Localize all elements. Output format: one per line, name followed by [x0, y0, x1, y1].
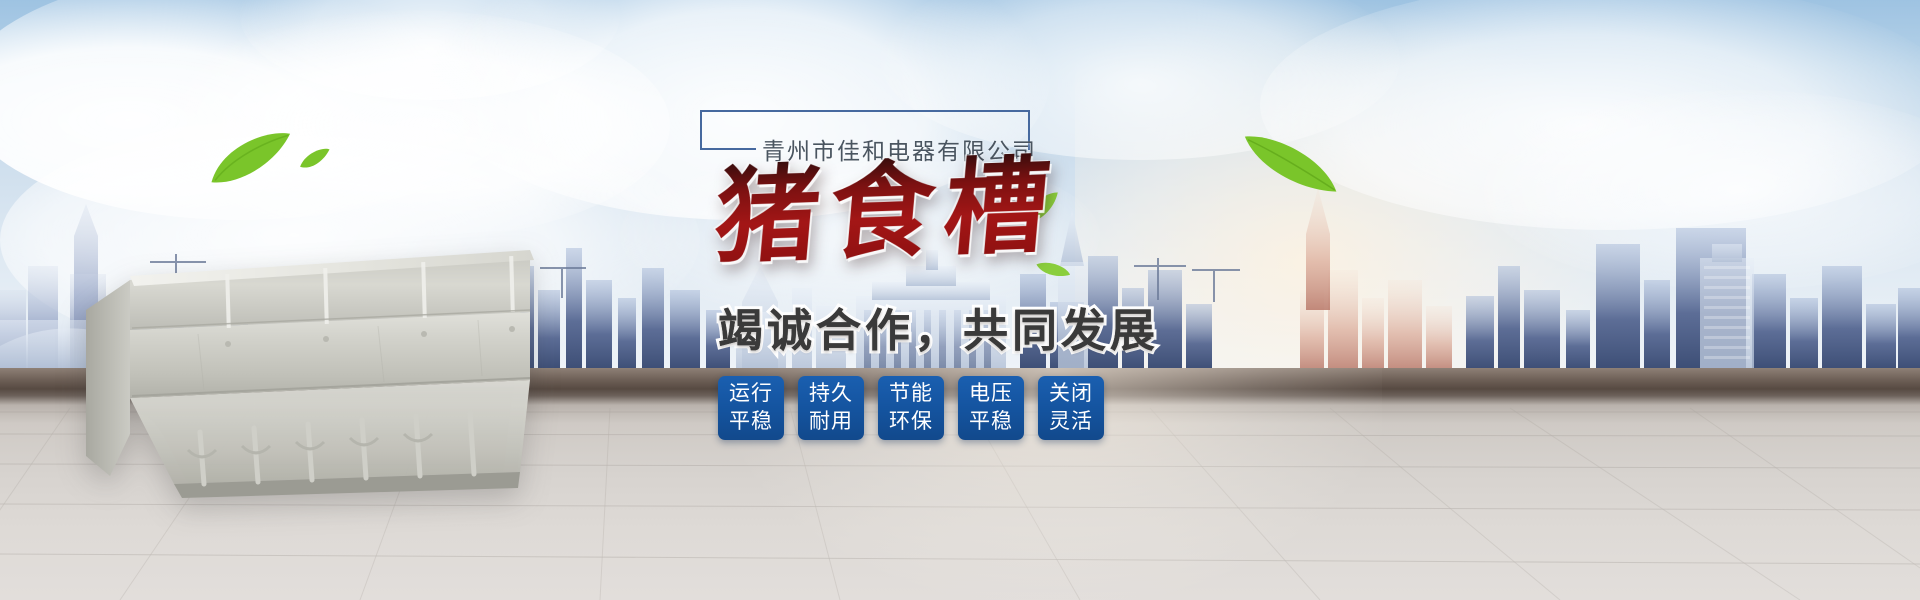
feature-tag-list: 运行 平稳 持久 耐用 节能 环保 电压 平稳 关闭 灵活	[718, 376, 1104, 440]
feature-tag-line1: 持久	[809, 380, 853, 408]
promo-banner: 青州市佳和电器有限公司 猪食槽 竭诚合作，共同发展 竭诚合作，共同发展 运行 平…	[0, 0, 1920, 600]
feature-tag-line1: 运行	[729, 380, 773, 408]
feature-tag-line2: 平稳	[969, 408, 1013, 436]
banner-copy: 青州市佳和电器有限公司 猪食槽 竭诚合作，共同发展 竭诚合作，共同发展 运行 平…	[700, 96, 1220, 556]
feature-tag-line2: 环保	[889, 408, 933, 436]
product-image-pig-feeder	[78, 184, 548, 504]
feature-tag[interactable]: 电压 平稳	[958, 376, 1024, 440]
subtitle: 竭诚合作，共同发展	[718, 294, 1159, 359]
feature-tag-line1: 关闭	[1049, 380, 1093, 408]
feature-tag[interactable]: 关闭 灵活	[1038, 376, 1104, 440]
feature-tag-line1: 节能	[889, 380, 933, 408]
feature-tag[interactable]: 持久 耐用	[798, 376, 864, 440]
feature-tag-line2: 灵活	[1049, 408, 1093, 436]
feature-tag[interactable]: 节能 环保	[878, 376, 944, 440]
feature-tag-line1: 电压	[969, 380, 1013, 408]
feature-tag-line2: 耐用	[809, 408, 853, 436]
feature-tag[interactable]: 运行 平稳	[718, 376, 784, 440]
page-title: 猪食槽	[711, 152, 1064, 270]
decorative-frame-foot	[700, 148, 756, 150]
feature-tag-line2: 平稳	[729, 408, 773, 436]
